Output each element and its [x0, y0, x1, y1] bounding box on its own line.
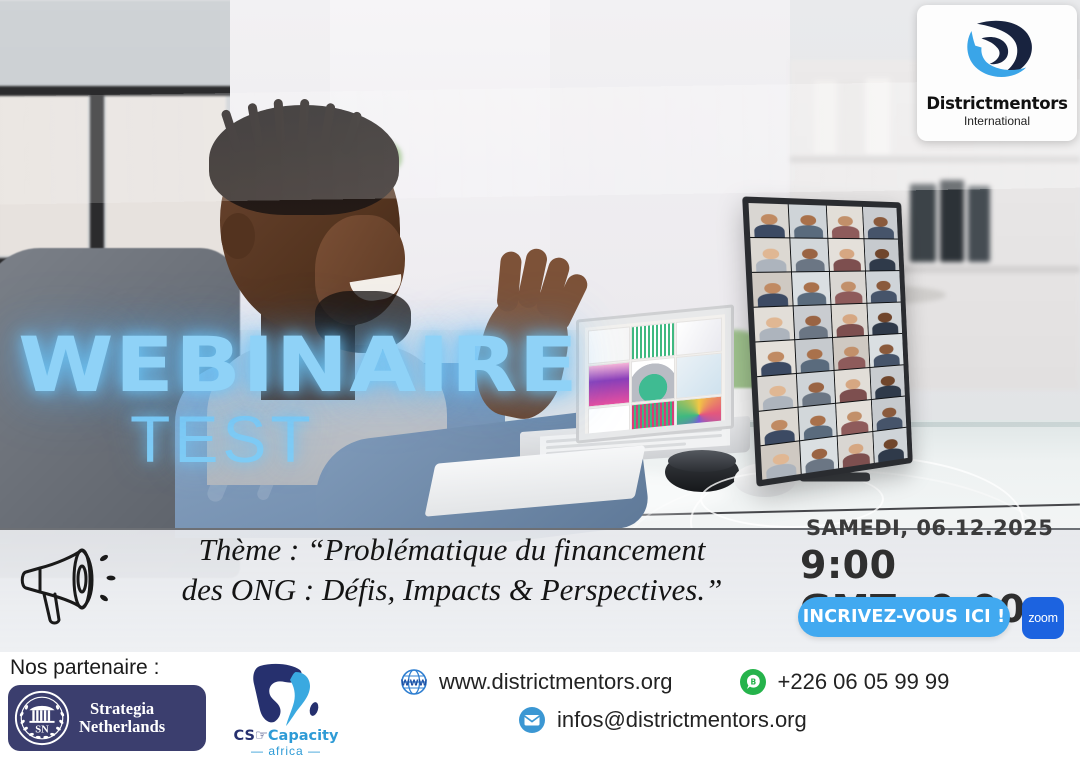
theme-text-line1: Thème : “Problématique du financement [122, 530, 782, 570]
capacity-prefix: CS [234, 728, 255, 744]
contact-row-2: infos@districtmentors.org [400, 706, 1080, 734]
website-text: www.districtmentors.org [439, 669, 673, 695]
brand-name: Districtmentors [926, 94, 1067, 113]
call-participant-tile [869, 334, 904, 367]
call-participant-tile [795, 338, 833, 373]
event-date: SAMEDI, 06.12.2025 [806, 516, 1053, 540]
contact-website[interactable]: WWW www.districtmentors.org [400, 668, 673, 696]
call-participant-tile [798, 404, 836, 440]
call-participant-tile [830, 272, 867, 304]
call-participant-tile [836, 400, 872, 435]
call-participant-tile [759, 408, 799, 446]
call-participant-tile [828, 239, 865, 271]
call-participant-tile [790, 238, 829, 271]
call-participant-tile [866, 271, 901, 303]
theme-text-line2: des ONG : Défis, Impacts & Perspectives.… [122, 570, 782, 610]
webinar-poster: Districtmentors International WEBINAIRE … [0, 0, 1080, 763]
capacity-main: Capacity [268, 728, 339, 744]
capacity-sub: — africa — [230, 744, 342, 758]
svg-text:B: B [750, 677, 756, 686]
register-button-label: INCRIVEZ-VOUS ICI ! [803, 607, 1006, 627]
call-participant-tile [831, 304, 868, 337]
partners-label: Nos partenaire : [10, 656, 159, 680]
whatsapp-icon: B [739, 668, 767, 696]
email-text: infos@districtmentors.org [557, 707, 807, 733]
capacity-africa-name: CS☞Capacity — africa — [230, 728, 342, 758]
call-participant-tile [792, 272, 831, 305]
register-button[interactable]: INCRIVEZ-VOUS ICI ! [798, 597, 1010, 637]
monitor-video-call [742, 196, 913, 486]
districtmentors-d-logo-icon [951, 11, 1043, 93]
call-participant-tile [761, 441, 801, 479]
brand-subtitle: International [964, 114, 1030, 128]
call-participant-tile [863, 207, 898, 239]
phone-text: +226 06 05 99 99 [778, 669, 950, 695]
contact-phone[interactable]: B +226 06 05 99 99 [739, 668, 950, 696]
call-participant-tile [864, 239, 899, 270]
megaphone-icon [12, 534, 124, 630]
strategia-netherlands-seal-icon: SN [13, 689, 71, 747]
call-participant-tile [873, 428, 907, 463]
speaker-top [668, 450, 736, 472]
strategia-line1: Strategia [79, 700, 165, 718]
call-participant-tile [794, 305, 832, 339]
partner-capacity-africa: CS☞Capacity — africa — [230, 662, 342, 754]
capacity-africa-map-icon [230, 662, 342, 728]
poster-title: WEBINAIRE TEST [18, 330, 538, 472]
contact-row-1: WWW www.districtmentors.org B +226 06 05… [400, 668, 1080, 696]
call-participant-tile [835, 368, 871, 403]
call-participant-tile [838, 432, 874, 468]
call-participant-tile [789, 204, 828, 237]
call-participant-tile [800, 437, 838, 474]
call-participant-tile [827, 206, 864, 239]
theme-text: Thème : “Problématique du financement de… [122, 530, 782, 609]
www-globe-icon: WWW [400, 668, 428, 696]
svg-text:WWW: WWW [401, 679, 428, 688]
contact-email[interactable]: infos@districtmentors.org [518, 706, 807, 734]
call-participant-tile [870, 365, 905, 399]
call-participant-tile [749, 203, 790, 237]
capacity-main-line: CS☞Capacity [230, 728, 342, 744]
call-participant-tile [797, 371, 835, 407]
call-participant-tile [750, 238, 791, 272]
strategia-netherlands-name: Strategia Netherlands [79, 700, 165, 737]
title-line-webinaire: WEBINAIRE [18, 330, 611, 400]
video-call-grid [749, 203, 908, 480]
call-participant-tile [833, 336, 869, 370]
partner-strategia-netherlands: SN Strategia Netherla [8, 685, 206, 751]
call-participant-tile [867, 303, 902, 335]
strategia-line2: Netherlands [79, 718, 165, 736]
contact-block: WWW www.districtmentors.org B +226 06 05… [400, 668, 1080, 744]
ear [221, 213, 255, 259]
email-envelope-icon [518, 706, 546, 734]
call-participant-tile [754, 306, 795, 341]
call-participant-tile [757, 374, 797, 411]
svg-text:SN: SN [35, 725, 49, 736]
zoom-label: zoom [1028, 611, 1057, 625]
call-participant-tile [872, 397, 907, 431]
zoom-platform-badge[interactable]: zoom [1022, 597, 1064, 639]
title-line-test: TEST [130, 406, 538, 472]
brand-logo-card: Districtmentors International [917, 5, 1077, 141]
call-participant-tile [755, 340, 795, 376]
call-participant-tile [752, 272, 793, 306]
